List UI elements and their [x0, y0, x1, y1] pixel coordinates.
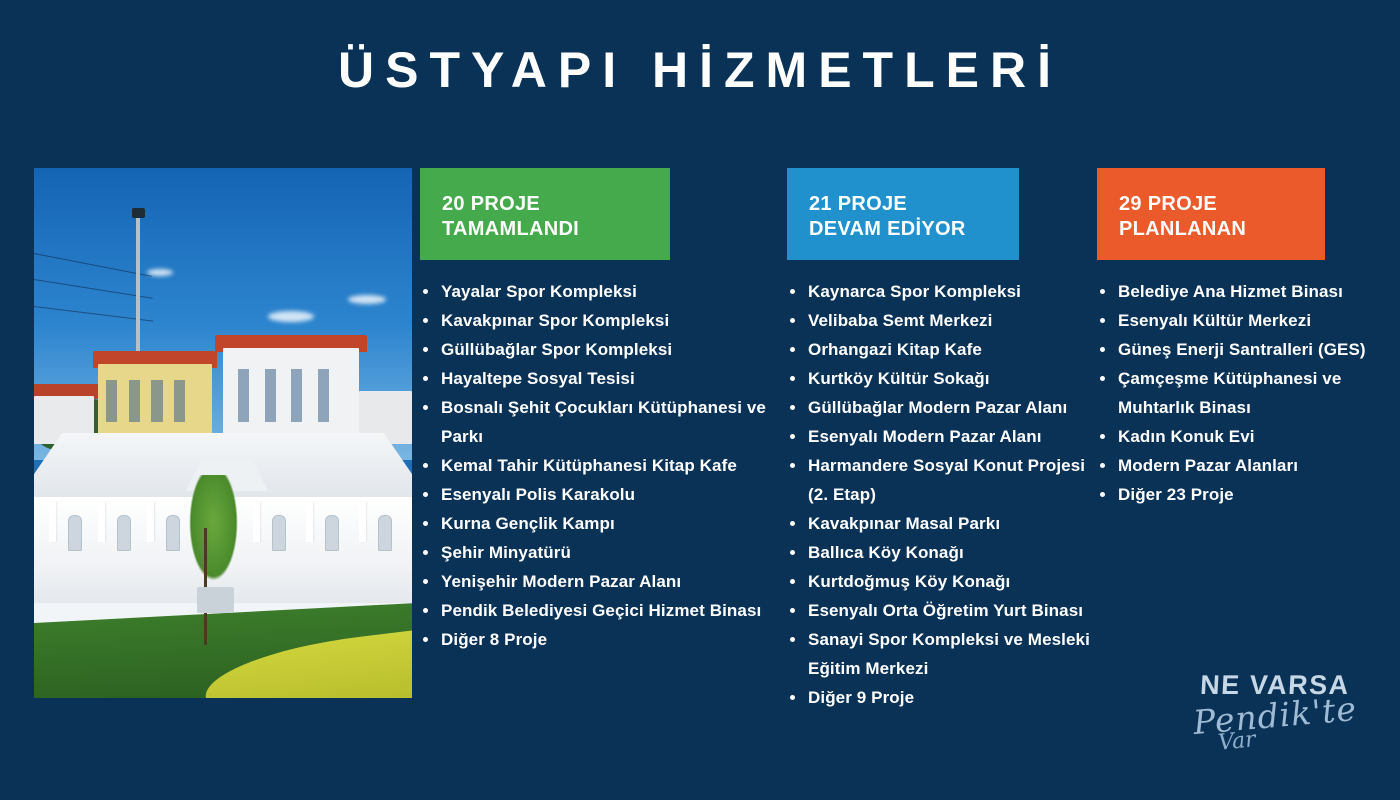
- window: [291, 369, 302, 422]
- facade-column: [253, 502, 260, 542]
- arched-window: [272, 515, 286, 551]
- arched-window: [117, 515, 131, 551]
- list-item: Diğer 9 Proje: [787, 683, 1097, 712]
- facade-column: [98, 502, 105, 542]
- list-item: Sanayi Spor Kompleksi ve Mesleki Eğitim …: [787, 625, 1097, 683]
- window: [238, 369, 249, 422]
- slide-root: ÜSTYAPI HİZMETLERİ: [0, 0, 1400, 800]
- list-item: Çamçeşme Kütüphanesi ve Muhtarlık Binası: [1097, 364, 1382, 422]
- list-item: Yayalar Spor Kompleksi: [420, 277, 780, 306]
- facade-column: [147, 502, 154, 542]
- list-item: Kadın Konuk Evi: [1097, 422, 1382, 451]
- list-item: Kurtköy Kültür Sokağı: [787, 364, 1097, 393]
- list-item: Bosnalı Şehit Çocukları Kütüphanesi ve P…: [420, 393, 780, 451]
- list-item: Güneş Enerji Santralleri (GES): [1097, 335, 1382, 364]
- list-item: Ballıca Köy Konağı: [787, 538, 1097, 567]
- list-item: Diğer 23 Proje: [1097, 480, 1382, 509]
- facade-column: [306, 502, 313, 542]
- project-list-devam-ediyor: Kaynarca Spor Kompleksi Velibaba Semt Me…: [787, 277, 1097, 712]
- list-item: Kurna Gençlik Kampı: [420, 509, 780, 538]
- arched-window: [325, 515, 339, 551]
- column-header-tamamlandi: 20 PROJE TAMAMLANDI: [420, 168, 670, 260]
- column-header-line2: TAMAMLANDI: [442, 217, 670, 242]
- list-item: Esenyalı Kültür Merkezi: [1097, 306, 1382, 335]
- list-item: Esenyalı Modern Pazar Alanı: [787, 422, 1097, 451]
- column-planlanan: 29 PROJE PLANLANAN Belediye Ana Hizmet B…: [1097, 168, 1382, 509]
- brand-logo: NE VARSA Pendik'te Var: [1180, 670, 1370, 762]
- column-header-line1: 20 PROJE: [442, 192, 670, 217]
- utility-pole-fixture: [132, 208, 145, 218]
- arched-window: [378, 515, 392, 551]
- facade-column: [49, 502, 56, 542]
- window: [174, 380, 185, 422]
- column-header-line2: DEVAM EDİYOR: [809, 217, 1019, 242]
- list-item: Güllübağlar Modern Pazar Alanı: [787, 393, 1097, 422]
- window: [151, 380, 162, 422]
- column-header-devam-ediyor: 21 PROJE DEVAM EDİYOR: [787, 168, 1019, 260]
- project-list-tamamlandi: Yayalar Spor Kompleksi Kavakpınar Spor K…: [420, 277, 780, 654]
- list-item: Belediye Ana Hizmet Binası: [1097, 277, 1382, 306]
- column-header-planlanan: 29 PROJE PLANLANAN: [1097, 168, 1325, 260]
- list-item: Diğer 8 Proje: [420, 625, 780, 654]
- window: [106, 380, 117, 422]
- list-item: Kemal Tahir Kütüphanesi Kitap Kafe: [420, 451, 780, 480]
- list-item: Kurtdoğmuş Köy Konağı: [787, 567, 1097, 596]
- column-devam-ediyor: 21 PROJE DEVAM EDİYOR Kaynarca Spor Komp…: [787, 168, 1097, 712]
- list-item: Modern Pazar Alanları: [1097, 451, 1382, 480]
- column-header-line2: PLANLANAN: [1119, 217, 1325, 242]
- list-item: Orhangazi Kitap Kafe: [787, 335, 1097, 364]
- arched-window: [166, 515, 180, 551]
- window: [129, 380, 140, 422]
- photo-illustration: [34, 168, 412, 698]
- cloud: [147, 269, 173, 276]
- list-item: Kaynarca Spor Kompleksi: [787, 277, 1097, 306]
- young-tree-crown: [189, 475, 238, 581]
- list-item: Kavakpınar Masal Parkı: [787, 509, 1097, 538]
- column-header-line1: 29 PROJE: [1119, 192, 1325, 217]
- column-header-line1: 21 PROJE: [809, 192, 1019, 217]
- column-tamamlandi: 20 PROJE TAMAMLANDI Yayalar Spor Komplek…: [420, 168, 780, 654]
- window: [318, 369, 329, 422]
- list-item: Esenyalı Polis Karakolu: [420, 480, 780, 509]
- arched-window: [68, 515, 82, 551]
- list-item: Güllübağlar Spor Kompleksi: [420, 335, 780, 364]
- project-photo: [34, 168, 412, 698]
- window: [265, 369, 276, 422]
- list-item: Kavakpınar Spor Kompleksi: [420, 306, 780, 335]
- page-title: ÜSTYAPI HİZMETLERİ: [0, 42, 1400, 98]
- list-item: Hayaltepe Sosyal Tesisi: [420, 364, 780, 393]
- list-item: Pendik Belediyesi Geçici Hizmet Binası: [420, 596, 780, 625]
- list-item: Esenyalı Orta Öğretim Yurt Binası: [787, 596, 1097, 625]
- facade-column: [359, 502, 366, 542]
- list-item: Şehir Minyatürü: [420, 538, 780, 567]
- project-list-planlanan: Belediye Ana Hizmet Binası Esenyalı Kült…: [1097, 277, 1382, 509]
- list-item: Velibaba Semt Merkezi: [787, 306, 1097, 335]
- list-item: Harmandere Sosyal Konut Projesi (2. Etap…: [787, 451, 1097, 509]
- planter: [197, 587, 235, 614]
- list-item: Yenişehir Modern Pazar Alanı: [420, 567, 780, 596]
